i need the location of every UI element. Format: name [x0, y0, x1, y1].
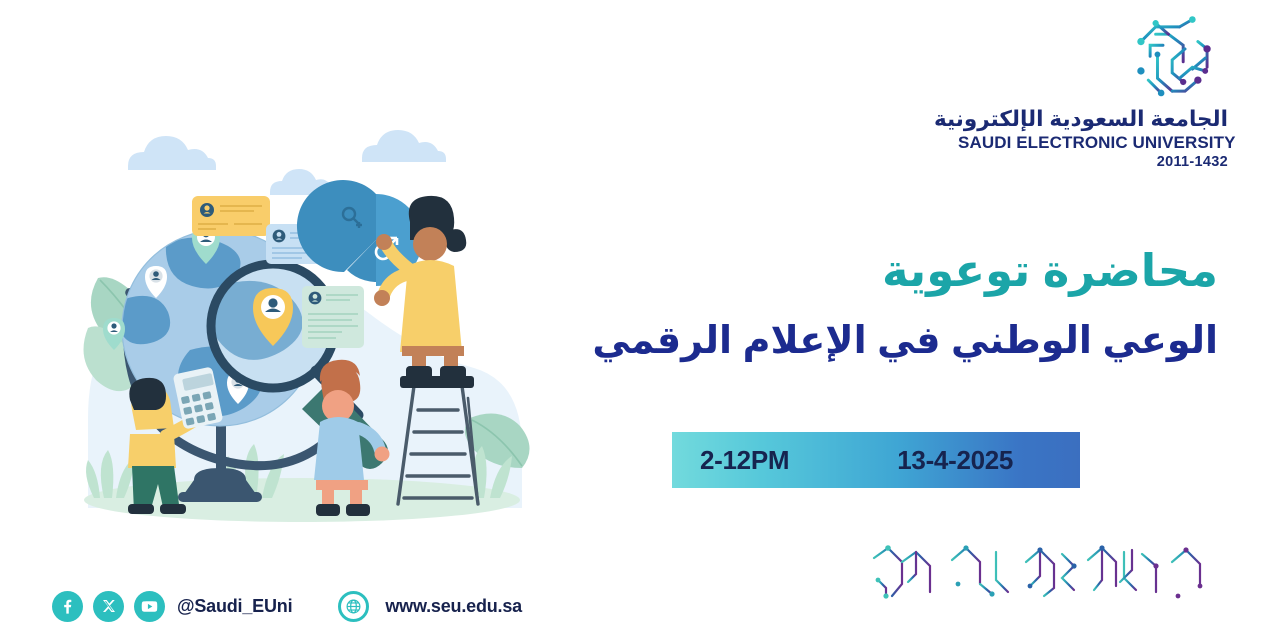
logo-name-arabic: الجامعة السعودية الإلكترونية: [958, 108, 1228, 132]
website-url[interactable]: www.seu.edu.sa: [385, 596, 522, 617]
info-card-mint: [302, 286, 364, 348]
event-info-bar: 2-12PM 13-4-2025: [672, 432, 1080, 488]
headline-group: محاضرة توعوية الوعي الوطني في الإعلام ال…: [538, 246, 1218, 364]
facebook-icon[interactable]: [52, 591, 83, 622]
logo-founding-years: 2011-1432: [958, 154, 1228, 170]
circuit-pattern-decoration: [868, 540, 1228, 612]
headline-secondary: الوعي الوطني في الإعلام الرقمي: [538, 320, 1218, 364]
digital-media-awareness-illustration: [70, 118, 530, 528]
cloud-group: [128, 130, 446, 195]
banner-root: الجامعة السعودية الإلكترونية SAUDI ELECT…: [0, 0, 1280, 640]
footer-bar: @Saudi_EUni www.seu.edu.sa: [52, 584, 522, 628]
hexagon-circuit-logo-icon: [1128, 14, 1220, 104]
social-handle[interactable]: @Saudi_EUni: [177, 596, 292, 617]
headline-primary: محاضرة توعوية: [538, 246, 1218, 296]
event-time: 2-12PM: [700, 445, 789, 476]
brand-logo-block: الجامعة السعودية الإلكترونية SAUDI ELECT…: [958, 14, 1228, 170]
website-group[interactable]: www.seu.edu.sa: [338, 591, 522, 622]
globe-icon[interactable]: [338, 591, 369, 622]
x-twitter-icon[interactable]: [93, 591, 124, 622]
youtube-icon[interactable]: [134, 591, 165, 622]
logo-name-english: SAUDI ELECTRONIC UNIVERSITY: [958, 133, 1228, 153]
event-date: 13-4-2025: [897, 445, 1013, 476]
info-card-yellow: [192, 196, 270, 236]
